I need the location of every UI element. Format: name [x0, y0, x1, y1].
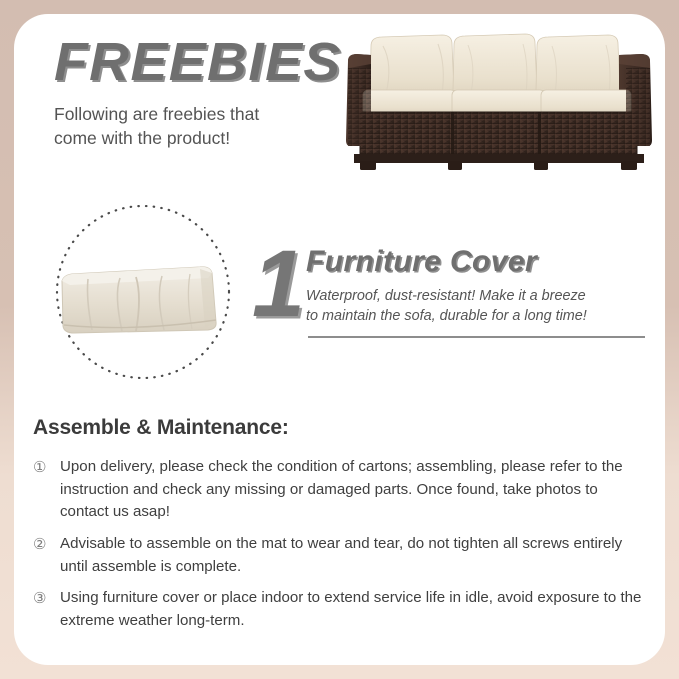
page-root: FREEBIES Following are freebies that com… [0, 0, 679, 679]
freebie-number: 1 [252, 237, 305, 332]
list-marker-1: ① [33, 456, 60, 480]
freebie-title: Furniture Cover [306, 246, 650, 278]
list-item: ① Upon delivery, please check the condit… [33, 456, 648, 524]
freebie-description: Waterproof, dust-resistant! Make it a br… [306, 286, 650, 328]
furniture-cover-illustration-icon [50, 199, 236, 385]
sofa-illustration-icon [338, 24, 660, 179]
list-text-2: Advisable to assemble on the mat to wear… [60, 533, 648, 578]
maintenance-list: ① Upon delivery, please check the condit… [33, 456, 648, 641]
header-section: FREEBIES Following are freebies that com… [14, 14, 665, 184]
sofa-product-image [338, 24, 660, 179]
list-text-1: Upon delivery, please check the conditio… [60, 456, 648, 524]
maintenance-heading: Assemble & Maintenance: [33, 416, 289, 440]
freebie-item-row: 1 Furniture Cover Waterproof, dust-resis… [14, 189, 665, 404]
header-text-block: FREEBIES Following are freebies that com… [54, 35, 374, 150]
page-title: FREEBIES [54, 35, 380, 89]
list-marker-3: ③ [33, 587, 60, 611]
freebie-text-block: Furniture Cover Waterproof, dust-resista… [306, 246, 650, 327]
header-subtitle: Following are freebies that come with th… [54, 103, 374, 150]
list-item: ② Advisable to assemble on the mat to we… [33, 533, 648, 578]
list-item: ③ Using furniture cover or place indoor … [33, 587, 648, 632]
content-card: FREEBIES Following are freebies that com… [14, 14, 665, 665]
furniture-cover-image [50, 199, 236, 385]
freebie-divider [308, 336, 645, 338]
list-text-3: Using furniture cover or place indoor to… [60, 587, 648, 632]
list-marker-2: ② [33, 533, 60, 557]
